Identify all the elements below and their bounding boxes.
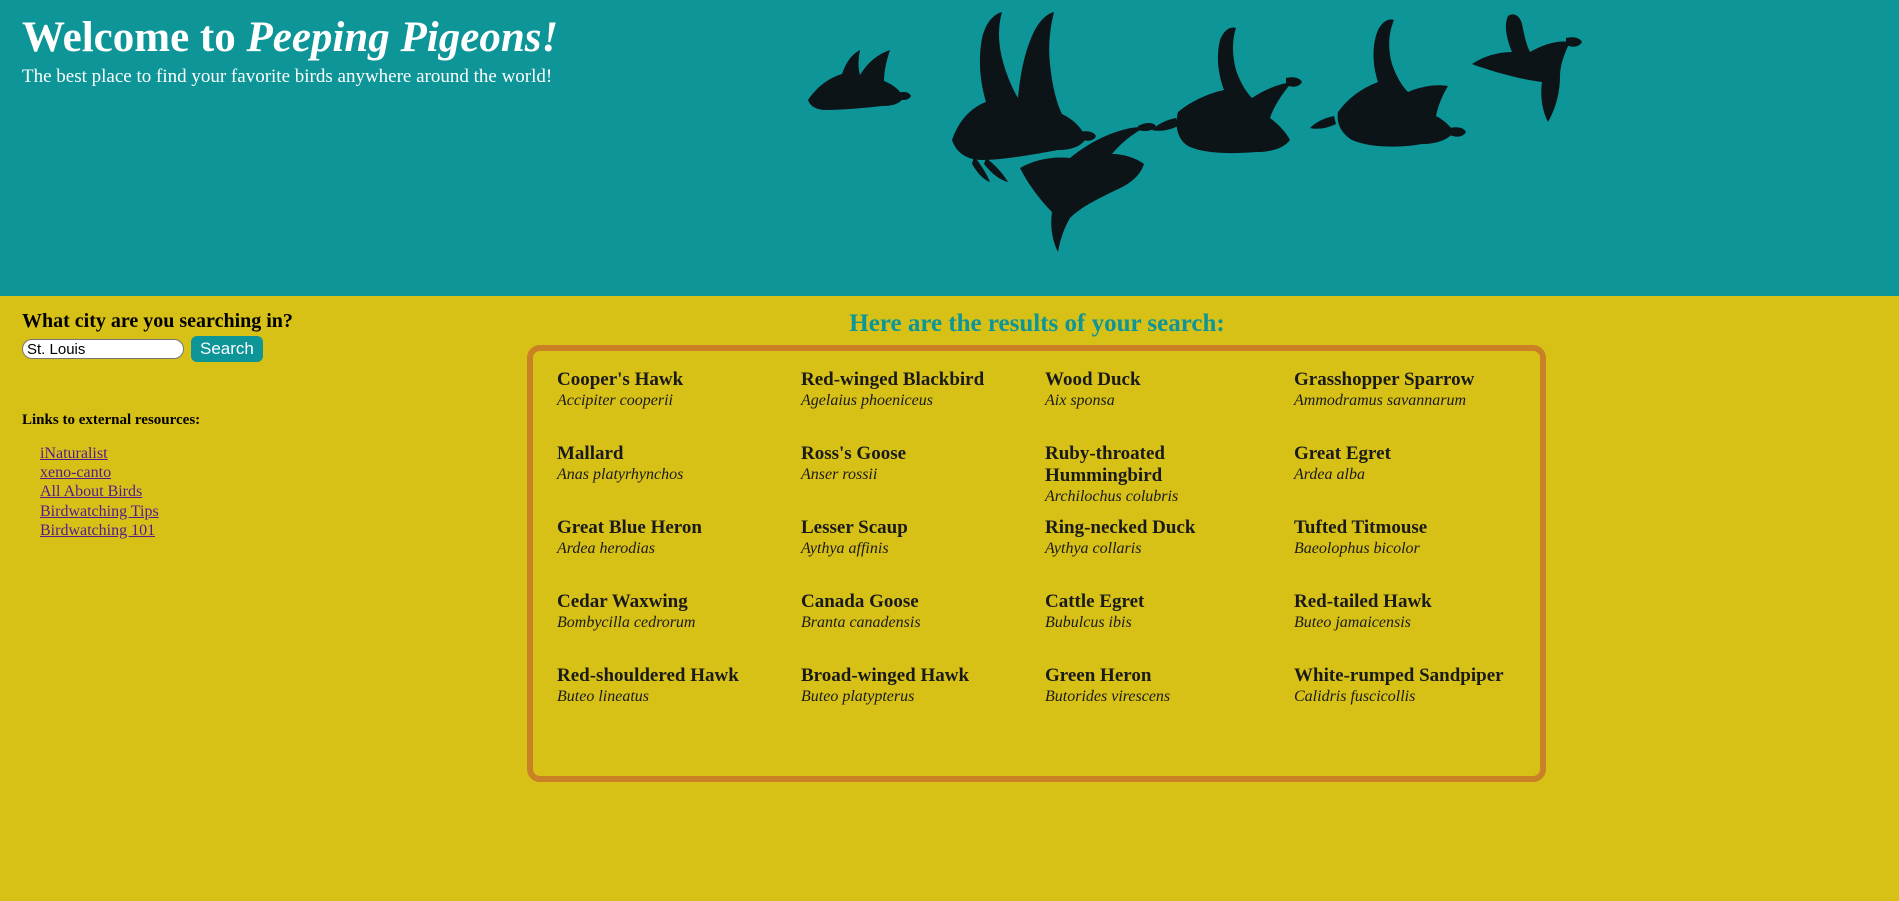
bird-scientific-name: Accipiter cooperii [557, 391, 801, 411]
bird-scientific-name: Buteo jamaicensis [1294, 613, 1544, 633]
bird-scientific-name: Ardea alba [1294, 465, 1544, 485]
link-all-about-birds[interactable]: All About Birds [40, 483, 142, 500]
banner-text-block: Welcome to Peeping Pigeons! The best pla… [22, 14, 558, 88]
bird-common-name: Great Blue Heron [557, 517, 772, 539]
flying-birds-illustration [780, 0, 1899, 296]
link-inaturalist[interactable]: iNaturalist [40, 445, 108, 462]
list-item: xeno-canto [40, 463, 159, 482]
bird-result-cell: Cattle EgretBubulcus ibis [1045, 591, 1294, 665]
site-banner: Welcome to Peeping Pigeons! The best pla… [0, 0, 1899, 296]
city-search-input[interactable] [22, 339, 184, 359]
bird-scientific-name: Butorides virescens [1045, 687, 1294, 707]
results-box: Cooper's HawkAccipiter cooperiiRed-winge… [527, 345, 1546, 782]
bird-common-name: Green Heron [1045, 665, 1260, 687]
link-xeno-canto[interactable]: xeno-canto [40, 464, 111, 481]
bird-result-cell: Green HeronButorides virescens [1045, 665, 1294, 739]
list-item: iNaturalist [40, 444, 159, 463]
results-grid: Cooper's HawkAccipiter cooperiiRed-winge… [533, 369, 1540, 739]
page-title-plain: Welcome to [22, 14, 246, 61]
bird-common-name: Mallard [557, 443, 772, 465]
list-item: Birdwatching Tips [40, 502, 159, 521]
bird-result-cell: Red-tailed HawkButeo jamaicensis [1294, 591, 1544, 665]
bird-scientific-name: Archilochus colubris [1045, 487, 1294, 507]
bird-scientific-name: Ardea herodias [557, 539, 801, 559]
bird-common-name: Grasshopper Sparrow [1294, 369, 1509, 391]
page-title: Welcome to Peeping Pigeons! [22, 14, 558, 62]
list-item: All About Birds [40, 482, 159, 501]
bird-result-cell: Red-winged BlackbirdAgelaius phoeniceus [801, 369, 1045, 443]
bird-scientific-name: Buteo platypterus [801, 687, 1045, 707]
search-form: Search [22, 336, 263, 362]
bird-result-cell: Grasshopper SparrowAmmodramus savannarum [1294, 369, 1544, 443]
bird-common-name: Great Egret [1294, 443, 1509, 465]
external-resources-list: iNaturalist xeno-canto All About Birds B… [40, 444, 159, 540]
bird-result-cell: Cooper's HawkAccipiter cooperii [557, 369, 801, 443]
bird-scientific-name: Agelaius phoeniceus [801, 391, 1045, 411]
bird-common-name: Cedar Waxwing [557, 591, 772, 613]
page-title-emphasis: Peeping Pigeons! [246, 14, 558, 61]
bird-result-cell: Ring-necked DuckAythya collaris [1045, 517, 1294, 591]
bird-result-cell: MallardAnas platyrhynchos [557, 443, 801, 517]
bird-common-name: Ring-necked Duck [1045, 517, 1260, 539]
link-birdwatching-101[interactable]: Birdwatching 101 [40, 522, 155, 539]
bird-common-name: Wood Duck [1045, 369, 1260, 391]
external-resources-heading: Links to external resources: [22, 412, 200, 429]
bird-scientific-name: Ammodramus savannarum [1294, 391, 1544, 411]
bird-common-name: Lesser Scaup [801, 517, 1016, 539]
bird-result-cell: Red-shouldered HawkButeo lineatus [557, 665, 801, 739]
search-prompt-label: What city are you searching in? [22, 310, 293, 333]
bird-common-name: Red-winged Blackbird [801, 369, 1016, 391]
bird-scientific-name: Calidris fuscicollis [1294, 687, 1544, 707]
bird-common-name: Ruby-throated Hummingbird [1045, 443, 1260, 487]
bird-scientific-name: Aix sponsa [1045, 391, 1294, 411]
results-heading: Here are the results of your search: [527, 310, 1547, 338]
bird-common-name: White-rumped Sandpiper [1294, 665, 1509, 687]
bird-result-cell: Lesser ScaupAythya affinis [801, 517, 1045, 591]
bird-result-cell: Wood DuckAix sponsa [1045, 369, 1294, 443]
bird-scientific-name: Buteo lineatus [557, 687, 801, 707]
bird-result-cell: Cedar WaxwingBombycilla cedrorum [557, 591, 801, 665]
bird-common-name: Ross's Goose [801, 443, 1016, 465]
bird-common-name: Red-tailed Hawk [1294, 591, 1509, 613]
bird-common-name: Cooper's Hawk [557, 369, 772, 391]
bird-scientific-name: Anser rossii [801, 465, 1045, 485]
main-content: What city are you searching in? Search L… [0, 296, 1899, 901]
bird-scientific-name: Bubulcus ibis [1045, 613, 1294, 633]
bird-scientific-name: Branta canadensis [801, 613, 1045, 633]
bird-scientific-name: Aythya affinis [801, 539, 1045, 559]
page-subtitle: The best place to find your favorite bir… [22, 66, 558, 88]
link-birdwatching-tips[interactable]: Birdwatching Tips [40, 503, 159, 520]
bird-scientific-name: Bombycilla cedrorum [557, 613, 801, 633]
bird-result-cell: Great EgretArdea alba [1294, 443, 1544, 517]
bird-result-cell: Tufted TitmouseBaeolophus bicolor [1294, 517, 1544, 591]
bird-result-cell: Canada GooseBranta canadensis [801, 591, 1045, 665]
bird-common-name: Canada Goose [801, 591, 1016, 613]
bird-common-name: Tufted Titmouse [1294, 517, 1509, 539]
bird-result-cell: White-rumped SandpiperCalidris fuscicoll… [1294, 665, 1544, 739]
bird-result-cell: Ross's GooseAnser rossii [801, 443, 1045, 517]
bird-result-cell: Great Blue HeronArdea herodias [557, 517, 801, 591]
bird-scientific-name: Anas platyrhynchos [557, 465, 801, 485]
search-button[interactable]: Search [191, 336, 263, 362]
bird-common-name: Red-shouldered Hawk [557, 665, 772, 687]
results-panel: Here are the results of your search: Coo… [527, 296, 1547, 901]
list-item: Birdwatching 101 [40, 521, 159, 540]
bird-scientific-name: Aythya collaris [1045, 539, 1294, 559]
bird-result-cell: Broad-winged HawkButeo platypterus [801, 665, 1045, 739]
bird-result-cell: Ruby-throated HummingbirdArchilochus col… [1045, 443, 1294, 517]
bird-common-name: Cattle Egret [1045, 591, 1260, 613]
bird-scientific-name: Baeolophus bicolor [1294, 539, 1544, 559]
bird-common-name: Broad-winged Hawk [801, 665, 1016, 687]
